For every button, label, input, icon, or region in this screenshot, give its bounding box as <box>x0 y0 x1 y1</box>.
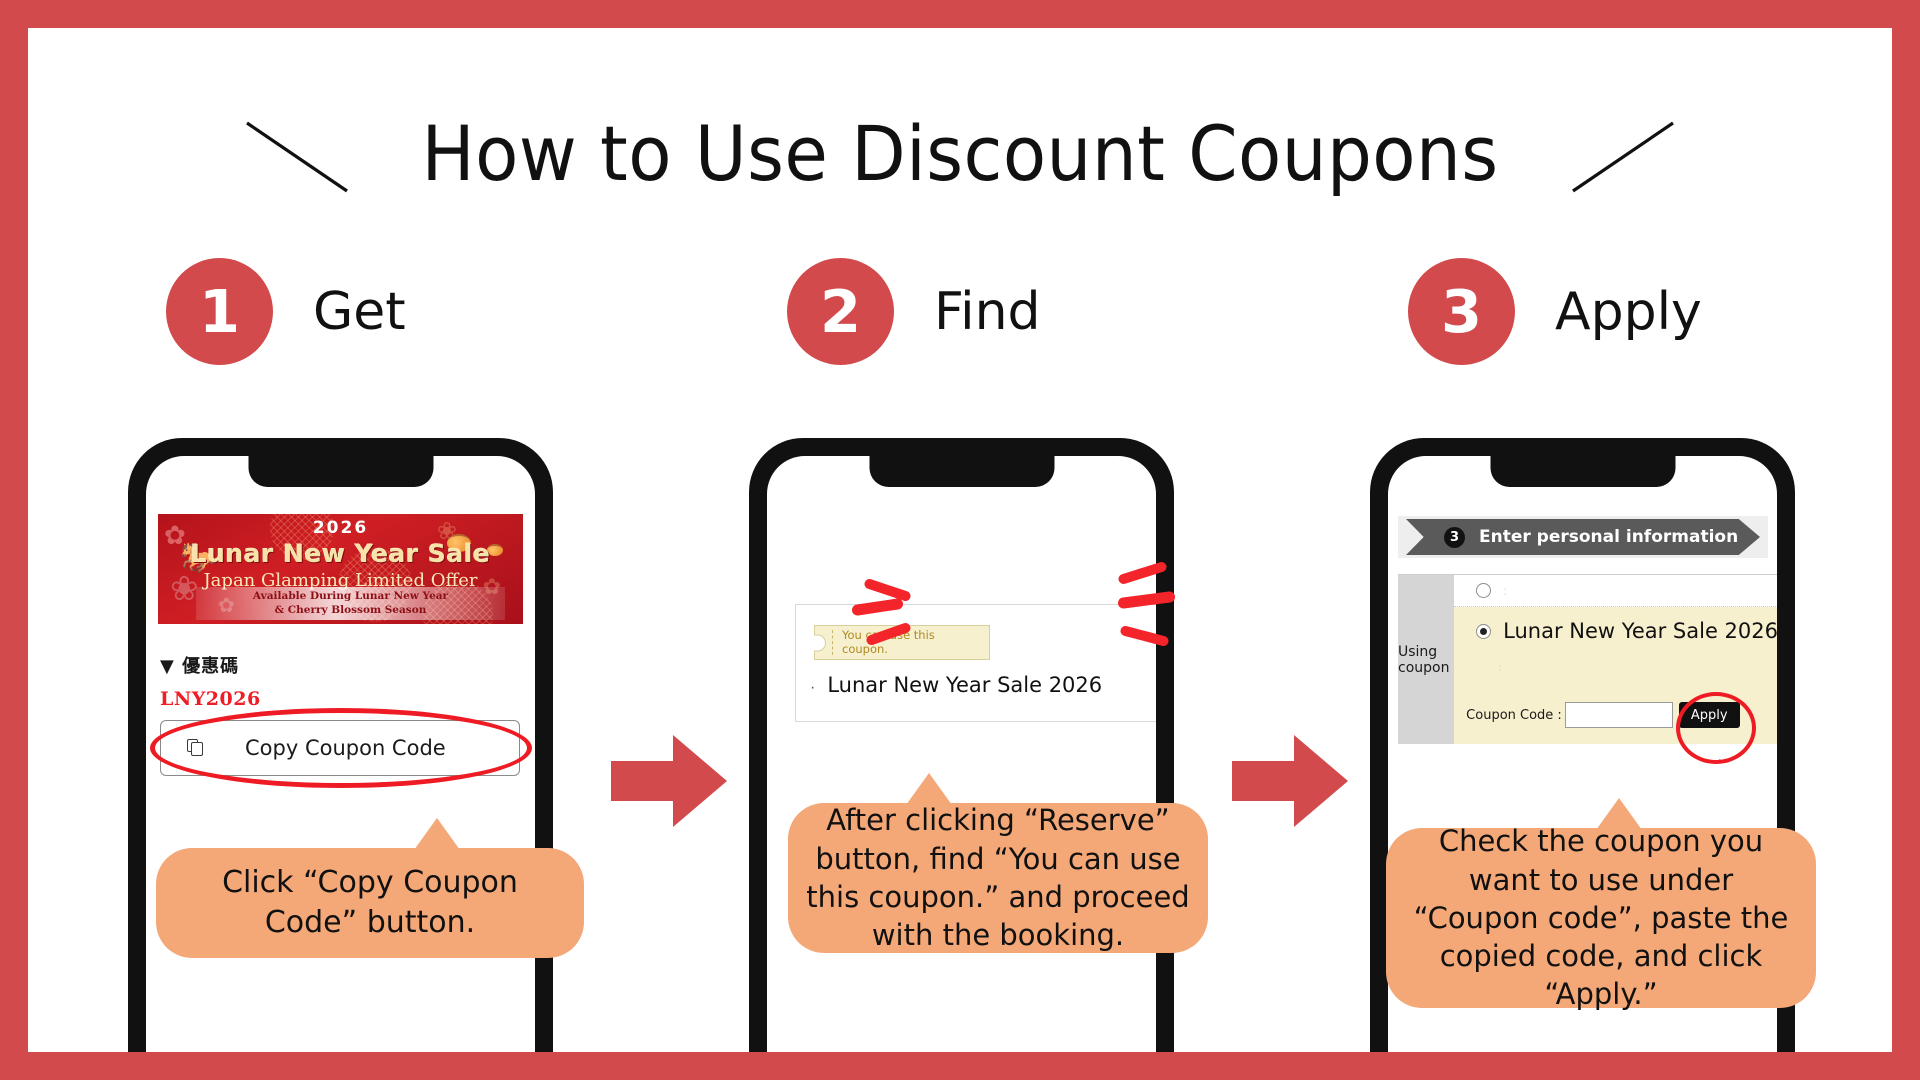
page-title-text: How to Use Discount Coupons <box>421 109 1498 198</box>
phone-notch-icon <box>248 456 433 487</box>
coupon-code-entry-row: Coupon Code : Apply <box>1466 702 1739 728</box>
copy-coupon-code-button[interactable]: Copy Coupon Code <box>160 720 520 776</box>
flow-arrow-1-icon <box>611 733 727 829</box>
title-slash-left-icon <box>243 109 363 197</box>
using-coupon-value-cell: : Lunar New Year Sale 2026 : Coupon Code… <box>1454 575 1777 744</box>
checkout-step-title: Enter personal information <box>1479 527 1738 547</box>
phone-mockup-1: ✿ ❀ ✿ ❀ ✿ 🐎 2026 Lunar New Year Sale Jap… <box>128 438 553 1052</box>
phone-screen-1: ✿ ❀ ✿ ❀ ✿ 🐎 2026 Lunar New Year Sale Jap… <box>146 456 535 1052</box>
poster-canvas: How to Use Discount Coupons 1 Get 2 Find… <box>28 28 1892 1052</box>
phone-notch-icon <box>1490 456 1675 487</box>
coupon-code-value: LNY2026 <box>160 688 261 710</box>
bullet-icon: · <box>810 680 815 696</box>
coupon-option-row-lunar[interactable]: Lunar New Year Sale 2026 <box>1454 607 1777 655</box>
coupon-option-label: Lunar New Year Sale 2026 <box>1503 619 1777 643</box>
tiny-mark-text: ’ <box>1718 758 1721 769</box>
flow-arrow-2-icon <box>1232 733 1348 829</box>
callout-tail-icon <box>1596 798 1642 830</box>
banner-availability-strip: Available During Lunar New Year & Cherry… <box>196 587 505 620</box>
callout-tail-icon <box>906 773 952 805</box>
radio-button-icon[interactable] <box>1476 583 1491 598</box>
lunar-new-year-banner: ✿ ❀ ✿ ❀ ✿ 🐎 2026 Lunar New Year Sale Jap… <box>158 514 523 624</box>
title-slash-right-icon <box>1557 109 1677 197</box>
step-label-1: Get <box>313 282 406 342</box>
step-number-badge-2: 2 <box>787 258 894 365</box>
copy-coupon-code-label: Copy Coupon Code <box>245 736 446 760</box>
banner-strip-line-2: & Cherry Blossom Season <box>275 604 427 617</box>
phone-notch-icon <box>869 456 1054 487</box>
coupon-option-empty-text: : <box>1503 584 1507 598</box>
coupon-ticket-badge: You can use this coupon. <box>814 625 990 660</box>
step-header-2: 2 Find <box>649 258 1270 365</box>
callout-bubble-1-text: Click “Copy Coupon Code” button. <box>174 863 566 942</box>
banner-title: Lunar New Year Sale <box>158 539 523 568</box>
callout-bubble-2-text: After clicking “Reserve” button, find “Y… <box>806 801 1190 954</box>
radio-button-selected-icon[interactable] <box>1476 624 1491 639</box>
step-label-3: Apply <box>1555 282 1702 342</box>
faint-separator-text: : <box>1498 661 1502 674</box>
phone-screen-2: You can use this coupon. · Lunar New Yea… <box>767 456 1156 1052</box>
ticket-badge-line-2: coupon. <box>842 642 888 656</box>
checkout-step-banner-inner: 3 Enter personal information <box>1406 519 1760 555</box>
callout-bubble-1: Click “Copy Coupon Code” button. <box>156 848 584 958</box>
callout-bubble-3: Check the coupon you want to use under “… <box>1386 828 1816 1008</box>
coupon-name-row: · Lunar New Year Sale 2026 <box>810 673 1102 697</box>
phone-mockup-2: You can use this coupon. · Lunar New Yea… <box>749 438 1174 1052</box>
callout-tail-icon <box>414 818 460 850</box>
copy-icon <box>187 739 205 757</box>
step-label-2: Find <box>934 282 1041 342</box>
using-coupon-label: Using coupon <box>1398 575 1454 744</box>
checkout-step-banner: 3 Enter personal information <box>1398 516 1768 558</box>
page-title: How to Use Discount Coupons <box>28 98 1892 208</box>
phone-column-2: You can use this coupon. · Lunar New Yea… <box>649 423 1270 1052</box>
ticket-perforation-icon <box>832 630 833 655</box>
ticket-badge-line-1: You can use this <box>842 628 935 642</box>
coupon-section-heading[interactable]: ▼ 優惠碼 <box>160 652 239 678</box>
apply-button[interactable]: Apply <box>1679 702 1740 728</box>
callout-bubble-2: After clicking “Reserve” button, find “Y… <box>788 803 1208 953</box>
steps-header-row: 1 Get 2 Find 3 Apply <box>28 258 1892 365</box>
coupon-available-card: You can use this coupon. · Lunar New Yea… <box>795 604 1156 722</box>
using-coupon-form-row: Using coupon : Lunar New Year Sale 2026 … <box>1398 574 1777 744</box>
banner-year: 2026 <box>158 518 523 538</box>
callout-bubble-3-text: Check the coupon you want to use under “… <box>1404 822 1798 1013</box>
checkout-step-number: 3 <box>1444 527 1465 548</box>
coupon-name-text: Lunar New Year Sale 2026 <box>827 673 1102 697</box>
banner-strip-line-1: Available During Lunar New Year <box>253 590 448 603</box>
step-header-3: 3 Apply <box>1270 258 1891 365</box>
coupon-option-row-empty[interactable]: : <box>1454 575 1777 607</box>
coupon-code-input-label: Coupon Code : <box>1466 708 1562 723</box>
coupon-code-input[interactable] <box>1565 702 1673 728</box>
step-number-badge-3: 3 <box>1408 258 1515 365</box>
step-header-1: 1 Get <box>28 258 649 365</box>
step-number-badge-1: 1 <box>166 258 273 365</box>
